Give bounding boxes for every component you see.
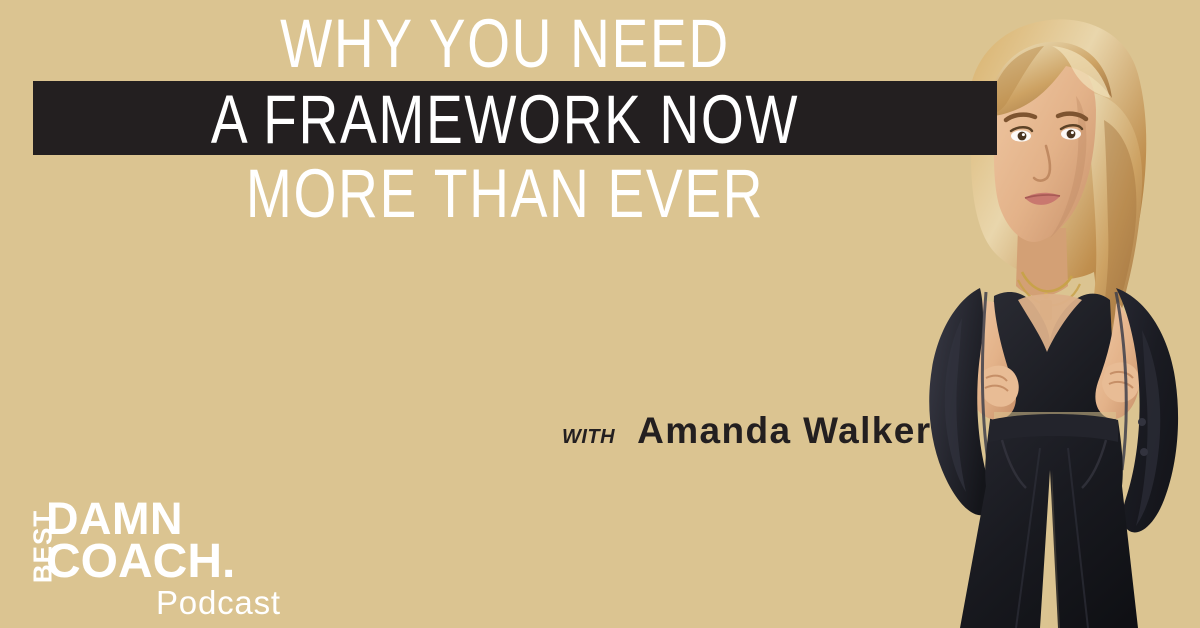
logo-word-coach: COACH. [46,540,281,583]
title-line-2-container: A FRAMEWORK NOW [0,81,1010,156]
logo-subtitle-podcast: Podcast [156,585,281,621]
episode-title: WHY YOU NEED A FRAMEWORK NOW MORE THAN E… [0,4,1010,231]
host-name: Amanda Walker [637,410,931,452]
logo-word-damn: DAMN [46,497,281,540]
logo-wordmark-stack: DAMN COACH. Podcast [46,497,281,621]
title-line-2: A FRAMEWORK NOW [101,81,909,157]
title-line-3: MORE THAN EVER [101,156,909,231]
host-credit: WITH Amanda Walker [562,410,932,452]
host-credit-prefix: WITH [562,426,615,449]
podcast-episode-cover: WHY YOU NEED A FRAMEWORK NOW MORE THAN E… [0,0,1200,628]
title-line-1: WHY YOU NEED [101,4,909,81]
podcast-logo: BEST DAMN COACH. Podcast [12,497,282,619]
